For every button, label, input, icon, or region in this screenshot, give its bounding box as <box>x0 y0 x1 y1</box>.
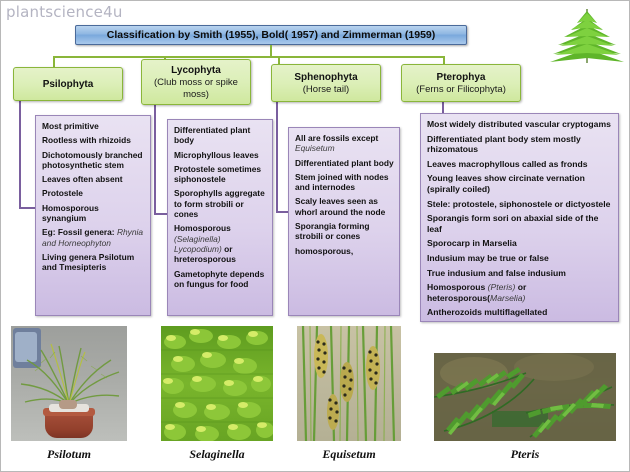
list-item: Most primitive <box>42 121 145 131</box>
list-item: Sporangis form sori on abaxial side of t… <box>427 213 613 234</box>
list-item: Rootless with rhizoids <box>42 135 145 145</box>
list-item: True indusium and false indusium <box>427 268 613 279</box>
list-item: Leaves macrophyllous called as fronds <box>427 159 613 170</box>
phylum-box-pterophya[interactable]: Pterophya (Ferns or Filicophyta) <box>401 64 521 102</box>
connector-purple-1-v <box>19 101 21 209</box>
list-item: Sporocarp in Marselia <box>427 238 613 249</box>
list-item: All are fossils except Equisetum <box>295 133 394 154</box>
list-item: Sporangia forming strobili or cones <box>295 221 394 242</box>
phylum-box-sphenophyta[interactable]: Sphenophyta (Horse tail) <box>271 64 381 102</box>
phylum-name: Pterophya <box>437 71 486 84</box>
photo-equisetum <box>297 326 401 441</box>
photo-psilotum <box>11 326 127 441</box>
detail-list: All are fossils except Equisetum Differe… <box>295 133 394 256</box>
photo-caption-equisetum: Equisetum <box>291 447 407 462</box>
list-item: Gametophyte depends on fungus for food <box>174 269 267 290</box>
list-item: Protostele sometimes siphonostele <box>174 164 267 185</box>
list-item: Microphyllous leaves <box>174 150 267 160</box>
list-item: Differentiated plant body stem mostly rh… <box>427 134 613 155</box>
list-item: Scaly leaves seen as whorl around the no… <box>295 196 394 217</box>
list-item: Protostele <box>42 188 145 198</box>
list-item: Sporophylls aggregate to form strobili o… <box>174 188 267 219</box>
page-title: Classification by Smith (1955), Bold( 19… <box>75 25 467 45</box>
detail-box-pterophya: Most widely distributed vascular cryptog… <box>420 113 619 322</box>
detail-box-lycophyta: Differentiated plant body Microphyllous … <box>167 119 273 316</box>
phylum-box-lycophyta[interactable]: Lycophyta (Club moss or spike moss) <box>141 59 251 105</box>
list-item: homosporous, <box>295 246 394 256</box>
connector-purple-2-v <box>154 105 156 215</box>
photo-caption-psilotum: Psilotum <box>11 447 127 462</box>
list-item: Homosporous (Pteris) or heterosporous(Ma… <box>427 282 613 303</box>
list-item: Indusium may be true or false <box>427 253 613 264</box>
photo-caption-pteris: Pteris <box>467 447 583 462</box>
list-item: Differentiated plant body <box>295 158 394 168</box>
list-item: Stem joined with nodes and internodes <box>295 172 394 193</box>
connector-purple-2-h <box>154 213 168 215</box>
phylum-name: Sphenophyta <box>294 71 357 84</box>
detail-list: Most primitive Rootless with rhizoids Di… <box>42 121 145 273</box>
photo-caption-selaginella: Selaginella <box>159 447 275 462</box>
list-item: Leaves often absent <box>42 174 145 184</box>
phylum-box-psilophyta[interactable]: Psilophyta <box>13 67 123 101</box>
detail-box-psilophyta: Most primitive Rootless with rhizoids Di… <box>35 115 151 316</box>
chart-page: plantscience4u <box>0 0 630 472</box>
photo-pteris <box>434 353 616 441</box>
connector-bus <box>53 56 445 58</box>
list-item: Young leaves show circinate vernation (s… <box>427 173 613 194</box>
phylum-subtitle: (Club moss or spike moss) <box>146 77 246 101</box>
list-item: Antherozoids multiflagellated <box>427 307 613 318</box>
detail-list: Differentiated plant body Microphyllous … <box>174 125 267 289</box>
list-item: Eg: Fossil genera: Rhynia and Horneophyt… <box>42 227 145 248</box>
detail-list: Most widely distributed vascular cryptog… <box>427 119 613 318</box>
list-item: Stele: protostele, siphonostele or dicty… <box>427 199 613 210</box>
phylum-name: Lycophyta <box>171 64 221 77</box>
list-item: Differentiated plant body <box>174 125 267 146</box>
connector-purple-3-v <box>276 101 278 213</box>
detail-box-sphenophyta: All are fossils except Equisetum Differe… <box>288 127 400 316</box>
list-item: Homosporous (Selaginella) Lycopodium) or… <box>174 223 267 264</box>
list-item: Dichotomously branched photosynthetic st… <box>42 150 145 171</box>
list-item: Living genera Psilotum and Tmesipteris <box>42 252 145 273</box>
phylum-subtitle: (Horse tail) <box>303 84 349 96</box>
list-item: Homosporous synangium <box>42 203 145 224</box>
phylum-subtitle: (Ferns or Filicophyta) <box>416 84 506 96</box>
phylum-name: Psilophyta <box>43 78 94 91</box>
fern-leaf-icon <box>547 3 627 65</box>
watermark: plantscience4u <box>6 3 123 21</box>
photo-selaginella <box>161 326 273 441</box>
list-item: Most widely distributed vascular cryptog… <box>427 119 613 130</box>
